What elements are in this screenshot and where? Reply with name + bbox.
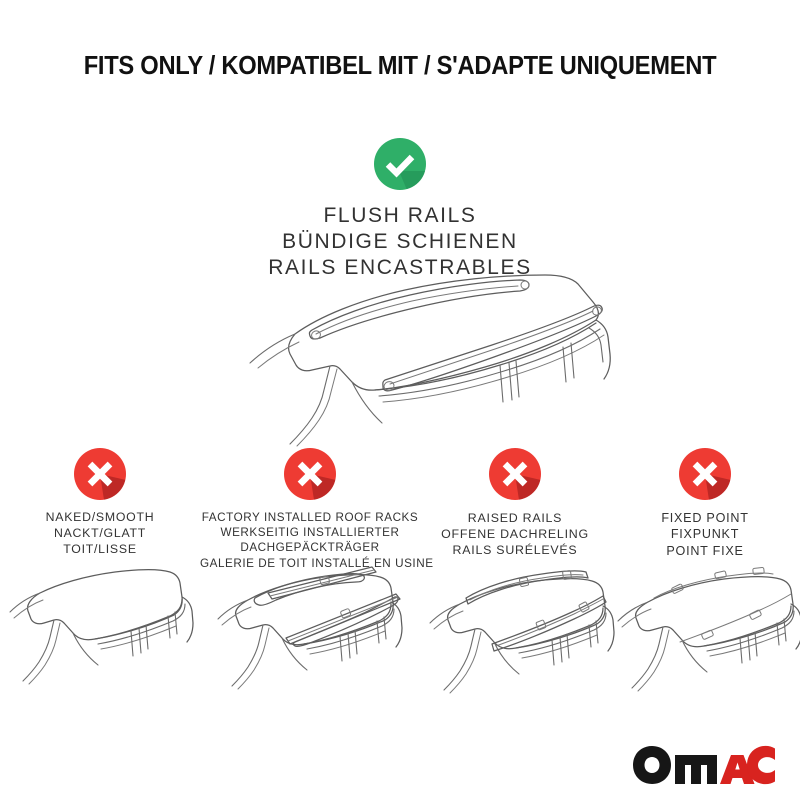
car-roof-with-raised-rails-illustration	[420, 556, 610, 681]
label-line-de: OFFENE DACHRELING	[420, 526, 610, 542]
incompatible-item-naked-smooth: NAKED/SMOOTH NACKT/GLATT TOIT/LISSE	[0, 448, 200, 571]
logo-letter-o	[633, 746, 671, 784]
x-circle-icon	[284, 448, 336, 500]
compatible-section: FLUSH RAILS BÜNDIGE SCHIENEN RAILS ENCAS…	[0, 138, 800, 281]
label-line-en: NAKED/SMOOTH	[0, 510, 200, 526]
page-title: FITS ONLY / KOMPATIBEL MIT / S'ADAPTE UN…	[28, 52, 772, 81]
x-circle-icon	[679, 448, 731, 500]
label-line-en: FIXED POINT	[610, 510, 800, 526]
incompatible-item-factory-roof-racks: FACTORY INSTALLED ROOF RACKS WERKSEITIG …	[200, 448, 420, 571]
header: FITS ONLY / KOMPATIBEL MIT / S'ADAPTE UN…	[0, 52, 800, 81]
check-circle-icon	[374, 138, 426, 190]
label-line-en: RAISED RAILS	[420, 510, 610, 526]
car-roof-with-fixed-points-illustration	[610, 554, 800, 679]
car-roof-naked-smooth-illustration	[0, 561, 200, 686]
x-circle-icon	[489, 448, 541, 500]
incompatible-label: FIXED POINT FIXPUNKT POINT FIXE	[610, 510, 800, 559]
label-line-de: NACKT/GLATT	[0, 526, 200, 542]
label-line-fr: TOIT/LISSE	[0, 542, 200, 558]
compatible-label-line-de: BÜNDIGE SCHIENEN	[0, 229, 800, 255]
incompatible-label: NAKED/SMOOTH NACKT/GLATT TOIT/LISSE	[0, 510, 200, 558]
incompatible-sections: NAKED/SMOOTH NACKT/GLATT TOIT/LISSE	[0, 448, 800, 571]
incompatible-item-raised-rails: RAISED RAILS OFFENE DACHRELING RAILS SUR…	[420, 448, 610, 571]
logo-letter-m	[675, 755, 717, 784]
label-line-de-1: WERKSEITIG INSTALLIERTER	[200, 525, 420, 540]
car-roof-with-factory-crossbars-illustration	[200, 554, 420, 679]
incompatible-label: RAISED RAILS OFFENE DACHRELING RAILS SUR…	[420, 510, 610, 558]
x-circle-icon	[74, 448, 126, 500]
car-roof-with-flush-rails-illustration	[200, 262, 620, 437]
compatible-label-line-en: FLUSH RAILS	[0, 203, 800, 229]
label-line-de: FIXPUNKT	[610, 526, 800, 542]
label-line-en: FACTORY INSTALLED ROOF RACKS	[200, 510, 420, 525]
brand-logo	[632, 744, 778, 786]
incompatible-item-fixed-point: FIXED POINT FIXPUNKT POINT FIXE	[610, 448, 800, 571]
